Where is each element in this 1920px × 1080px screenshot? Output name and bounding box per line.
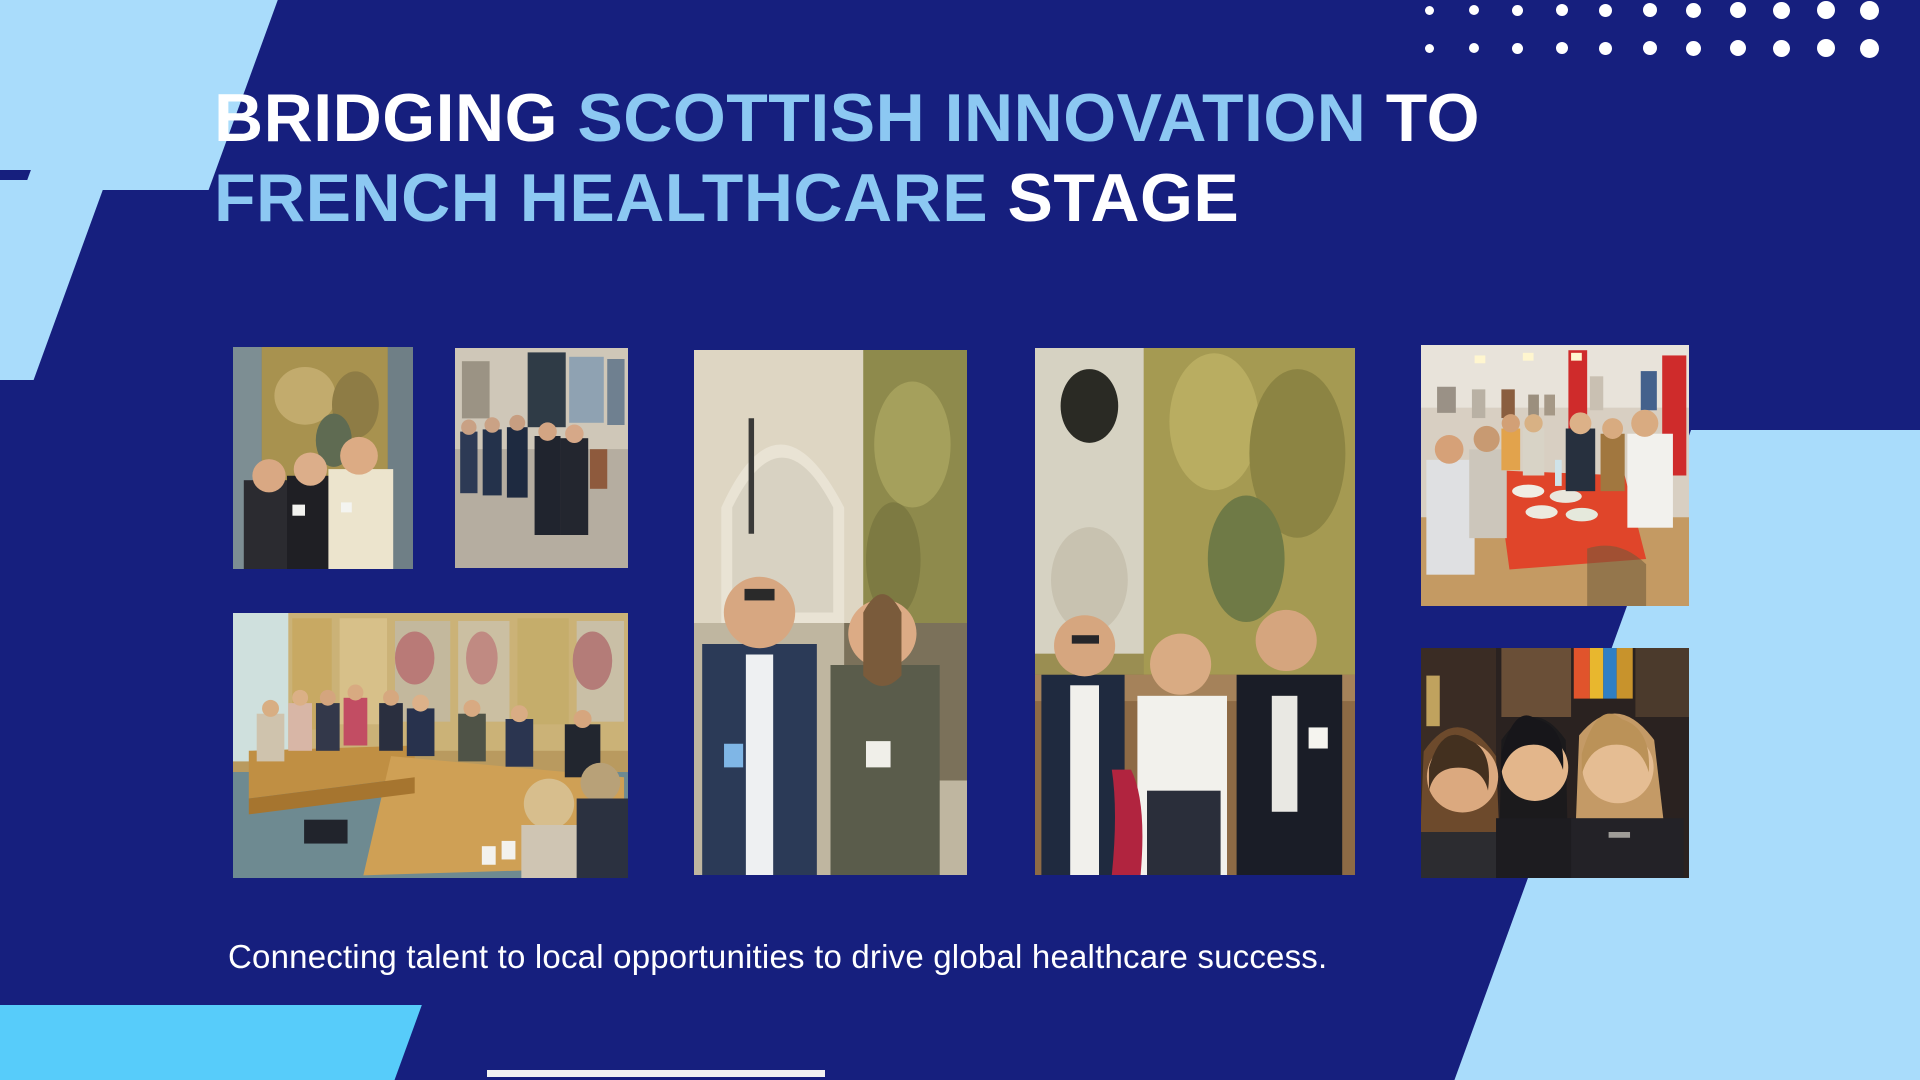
photo-dinner-table — [1421, 345, 1689, 606]
photo-trio-networking-artwork — [1035, 348, 1355, 875]
photo-three-women-selfie — [1421, 648, 1689, 878]
photo-courtyard-arrival — [455, 348, 628, 568]
presentation-slide: BRIDGING SCOTTISH INNOVATION TO FRENCH H… — [0, 0, 1920, 1080]
photo-roundtable-meeting-artwork — [233, 613, 628, 878]
photo-group-tapestry-artwork — [233, 347, 413, 569]
photo-trio-networking — [1035, 348, 1355, 875]
slide-caption: Connecting talent to local opportunities… — [228, 938, 1728, 976]
photo-pair-reception — [694, 350, 967, 875]
photo-group-tapestry — [233, 347, 413, 569]
photo-courtyard-arrival-artwork — [455, 348, 628, 568]
photo-pair-reception-artwork — [694, 350, 967, 875]
photo-three-women-selfie-artwork — [1421, 648, 1689, 878]
photo-collage — [0, 0, 1920, 1080]
photo-dinner-table-artwork — [1421, 345, 1689, 606]
photo-roundtable-meeting — [233, 613, 628, 878]
